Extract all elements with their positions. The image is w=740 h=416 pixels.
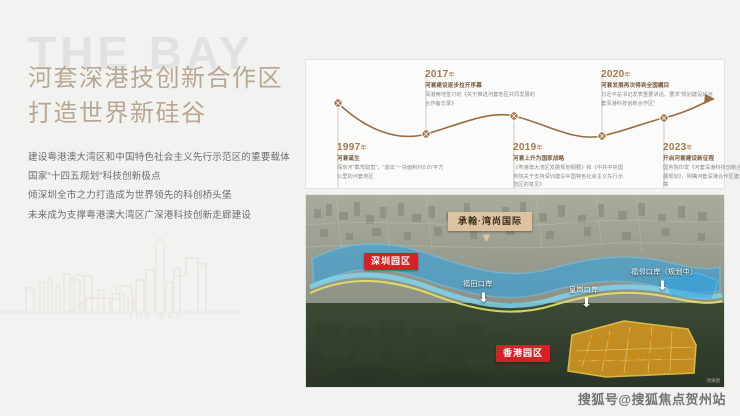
page-title-line-1: 河套深港技创新合作区 [28,62,283,97]
timeline-event-headline: 河套诞生 [337,155,445,163]
port-label-huanggang: 皇岗口岸 [569,285,599,295]
timeline-event-desc: 深港两地签订的《关于推进河套地区共同发展的合作备忘录》 [425,91,537,108]
port-label-fulin: 福邻口岸（规划中） [631,267,698,277]
slide-root: THE BAY 河套深港技创新合作区 打造世界新硅谷 建设粤港澳大湾区和中国特色… [0,0,740,416]
timeline-event-desc: 深圳河“截弯取直”，“造出”一块面积约0.87平方公里的河套地区 [337,164,445,181]
timeline-event-year: 2023年 [663,142,740,153]
timeline-event-year: 1997年 [337,142,445,153]
timeline-event-year: 2019年 [513,142,625,153]
timeline-event-headline: 河套建设逐步拉开序幕 [425,82,537,90]
timeline-event-year: 2017年 [425,69,537,80]
project-name-badge[interactable]: 承翰·湾尚国际 [448,212,532,231]
port-pointer-futian: ⬇ [478,291,489,304]
shenzhen-zone-badge[interactable]: 深圳园区 [364,253,418,270]
source-watermark: 搜狐号@搜狐焦点贺州站 [578,389,726,408]
bullet-item: 未来成为支撑粤港澳大湾区广深港科技创新走廊建设 [28,206,290,225]
timeline-event-2017: 2017年 河套建设逐步拉开序幕 深港两地签订的《关于推进河套地区共同发展的合作… [425,69,537,108]
timeline-event-2020: 2020年 河套发展再次得到全国瞩目 习近平总书记发表重要讲话、要求“规划建设好… [601,69,717,108]
timeline-event-headline: 河套发展再次得到全国瞩目 [601,82,717,90]
aerial-map-image: 承翰·湾尚国际 ▼ 深圳园区 香港园区 福田口岸 ⬇ 皇岗口岸 ⬇ 福邻口岸（规… [305,194,725,388]
map-disclaimer-note: 效果图 [707,378,721,384]
port-pointer-fulin: ⬇ [657,279,668,292]
hero-bullet-list: 建设粤港澳大湾区和中国特色社会主义先行示范区的重要载体 国家“十四五规划”科技创… [28,148,290,225]
timeline-event-desc: 《粤港澳大湾区发展规划纲要》和《中共中央国务院关于支持深圳建设中国特色社会主义先… [513,164,625,189]
timeline-event-desc: 习近平总书记发表重要讲话、要求“规划建设好河套深港科技创新合作区” [601,91,717,108]
bullet-item: 建设粤港澳大湾区和中国特色社会主义先行示范区的重要载体 [28,148,290,167]
timeline-event-headline: 河套上升为国家战略 [513,155,625,163]
hero-title-block: 河套深港技创新合作区 打造世界新硅谷 [28,62,283,132]
skyline-brand-label: THE BAY [128,312,184,321]
hongkong-zone-badge[interactable]: 香港园区 [496,345,550,362]
timeline-event-year: 2020年 [601,69,717,80]
timeline-chart-panel: 1997年 河套诞生 深圳河“截弯取直”，“造出”一块面积约0.87平方公里的河… [305,59,725,189]
project-pointer-arrow: ▼ [480,231,493,244]
bullet-item: 国家“十四五规划”科技创新极点 [28,167,290,186]
left-content-column: THE BAY 河套深港技创新合作区 打造世界新硅谷 建设粤港澳大湾区和中国特色… [0,0,300,416]
timeline-event-2019: 2019年 河套上升为国家战略 《粤港澳大湾区发展规划纲要》和《中共中央国务院关… [513,142,625,190]
timeline-event-headline: 开启河套建设新征程 [663,155,740,163]
port-pointer-huanggang: ⬇ [581,296,592,309]
port-label-futian: 福田口岸 [463,279,493,289]
timeline-event-2023: 2023年 开启河套建设新征程 国务院印发《河套深港科技创新合作区深圳园区发展规… [663,142,740,190]
bullet-item: 倾深圳全市之力打造成为世界领先的科创桥头堡 [28,186,290,205]
timeline-event-desc: 国务院印发《河套深港科技创新合作区深圳园区发展规划》，明确河套深港合作区建设的方… [663,164,740,189]
city-skyline-illustration: THE BAY [0,236,240,332]
timeline-event-1997: 1997年 河套诞生 深圳河“截弯取直”，“造出”一块面积约0.87平方公里的河… [337,142,445,181]
page-title-line-2: 打造世界新硅谷 [28,97,283,132]
